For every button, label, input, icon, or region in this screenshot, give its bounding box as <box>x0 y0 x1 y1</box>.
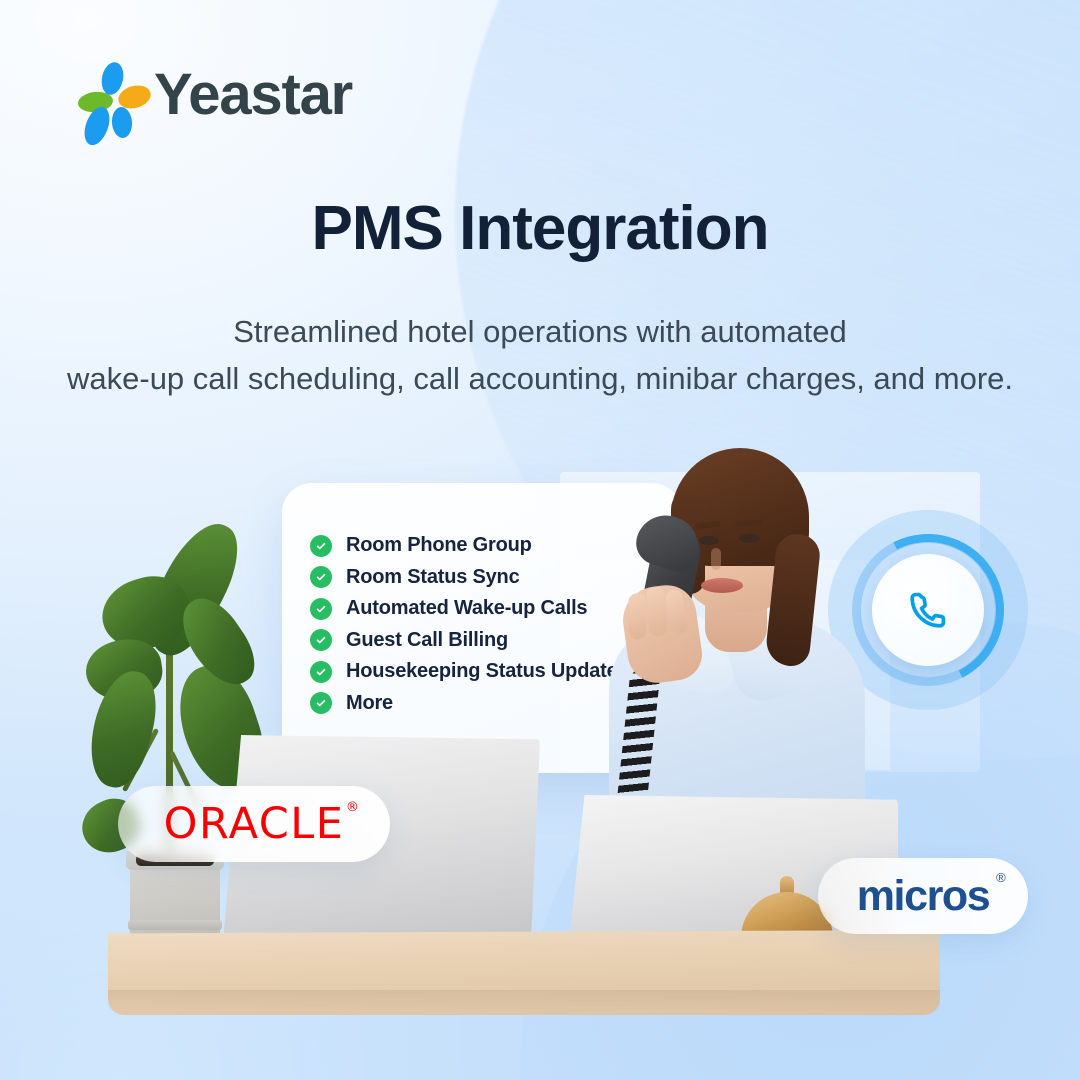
scene: Room Phone Group Room Status Sync Automa… <box>0 430 1080 1080</box>
page-title: PMS Integration <box>0 196 1080 261</box>
check-icon <box>310 535 332 557</box>
feature-label: More <box>346 692 393 715</box>
yeastar-logo[interactable]: Yeastar <box>78 62 352 128</box>
feature-label: Guest Call Billing <box>346 629 508 652</box>
feature-label: Automated Wake-up Calls <box>346 597 587 620</box>
desk-shadow <box>108 990 940 1012</box>
check-icon <box>310 629 332 651</box>
registered-mark: ® <box>996 871 1004 884</box>
phone-handset-icon <box>906 588 950 632</box>
feature-label: Room Phone Group <box>346 534 532 557</box>
partner-badge-micros[interactable]: micros® <box>818 858 1028 934</box>
feature-label: Room Status Sync <box>346 566 520 589</box>
feature-label: Housekeeping Status Update <box>346 660 618 683</box>
micros-logo-text: micros® <box>857 875 990 918</box>
eye-right <box>739 534 760 543</box>
subtitle-line-1: Streamlined hotel operations with automa… <box>0 308 1080 355</box>
oracle-logo-text: ORACLE® <box>164 803 345 846</box>
nose <box>711 548 721 570</box>
subtitle-line-2: wake-up call scheduling, call accounting… <box>0 355 1080 402</box>
check-icon <box>310 661 332 683</box>
plant-pot-lip <box>128 920 222 930</box>
partner-badge-oracle[interactable]: ORACLE® <box>118 786 390 862</box>
registered-mark: ® <box>346 801 361 814</box>
lips <box>701 578 743 593</box>
check-icon <box>310 566 332 588</box>
promo-graphic: Yeastar PMS Integration Streamlined hote… <box>0 0 1080 1080</box>
check-icon <box>310 692 332 714</box>
oracle-label: ORACLE <box>164 799 345 849</box>
subtitle: Streamlined hotel operations with automa… <box>0 308 1080 402</box>
micros-label: micros <box>857 872 990 920</box>
phone-badge[interactable] <box>872 554 984 666</box>
yeastar-flower-logo-icon <box>78 62 140 128</box>
eye-left <box>699 536 719 545</box>
check-icon <box>310 598 332 620</box>
brand-name: Yeastar <box>154 66 352 124</box>
